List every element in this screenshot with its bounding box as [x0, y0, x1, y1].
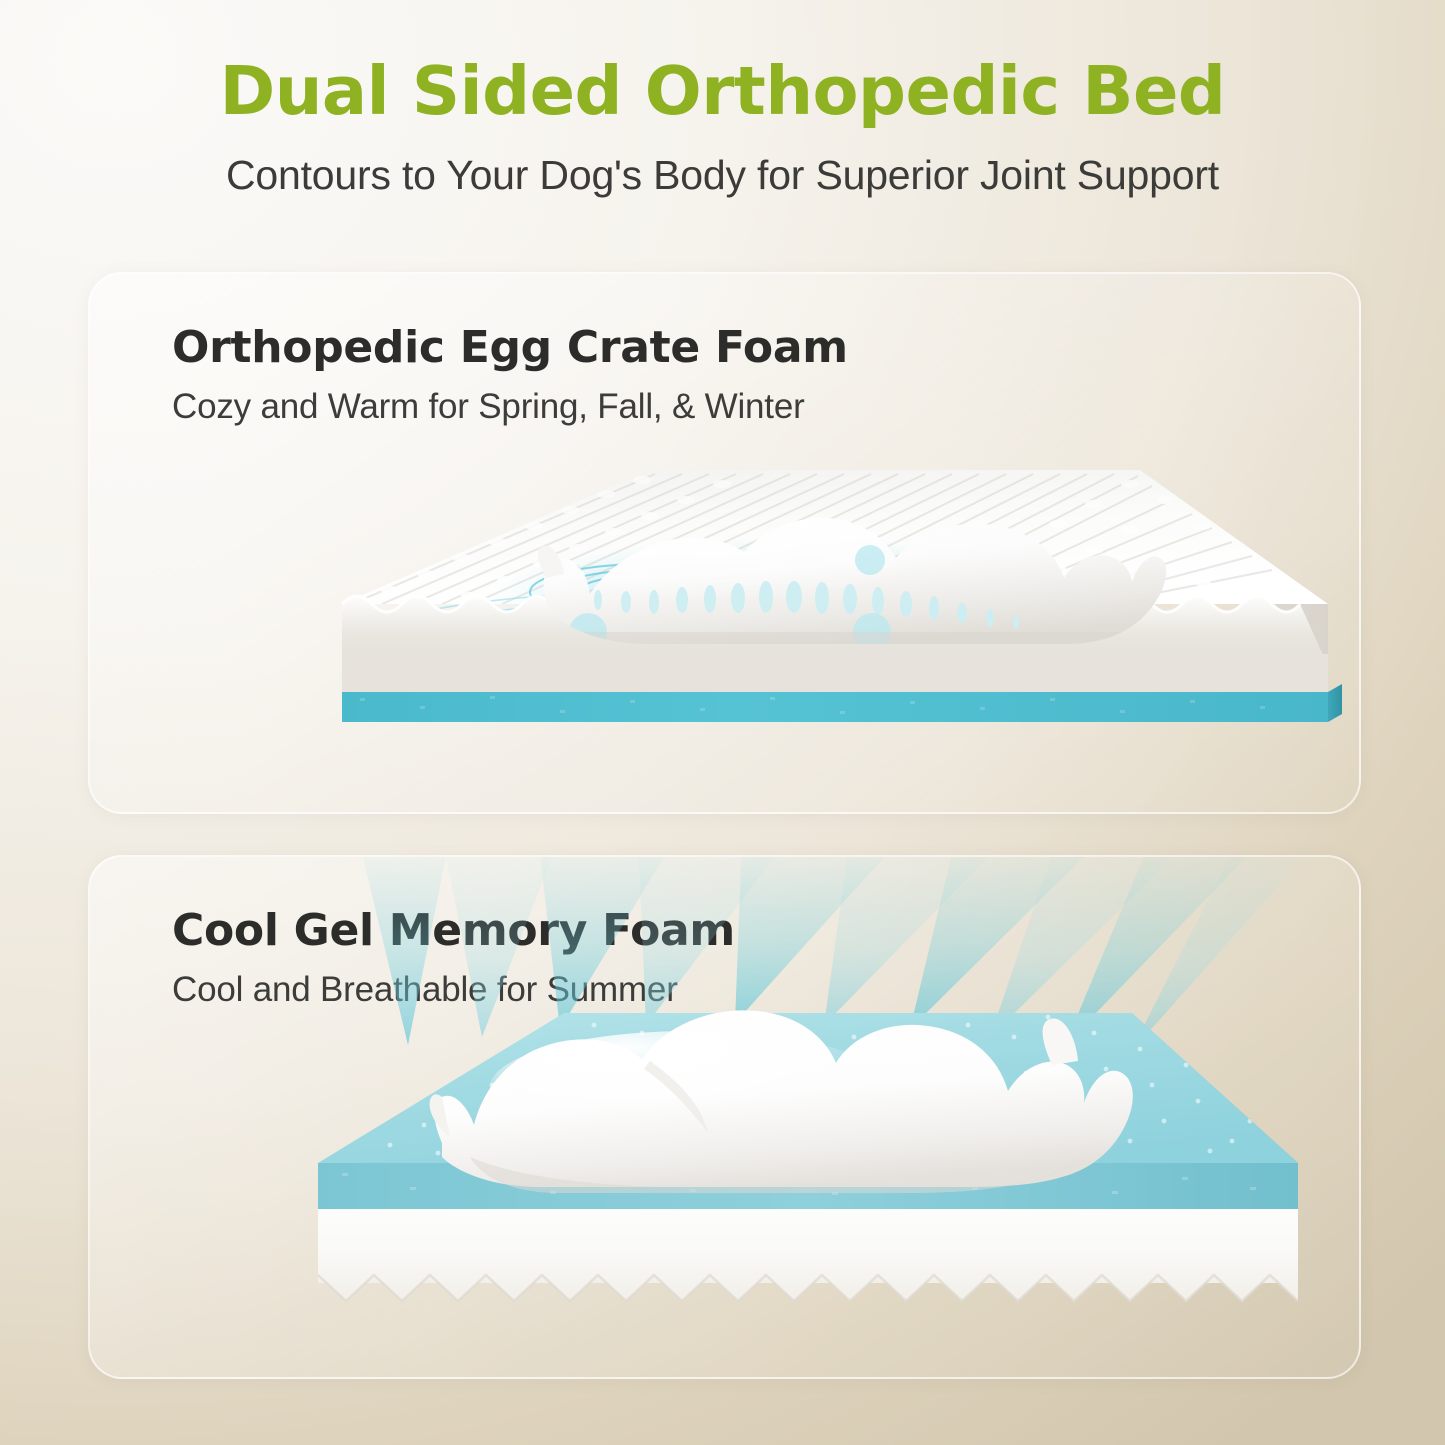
feature-card-cool-gel: Cool Gel Memory Foam Cool and Breathable…	[88, 855, 1361, 1379]
infographic-canvas: Dual Sided Orthopedic Bed Contours to Yo…	[0, 0, 1445, 1445]
page-subtitle: Contours to Your Dog's Body for Superior…	[0, 153, 1445, 198]
feature-card-egg-crate: Orthopedic Egg Crate Foam Cozy and Warm …	[88, 272, 1361, 814]
cool-gel-foam-illustration	[90, 857, 1359, 1377]
egg-crate-foam-illustration	[90, 274, 1359, 812]
header: Dual Sided Orthopedic Bed Contours to Yo…	[0, 56, 1445, 198]
page-title: Dual Sided Orthopedic Bed	[0, 56, 1445, 127]
